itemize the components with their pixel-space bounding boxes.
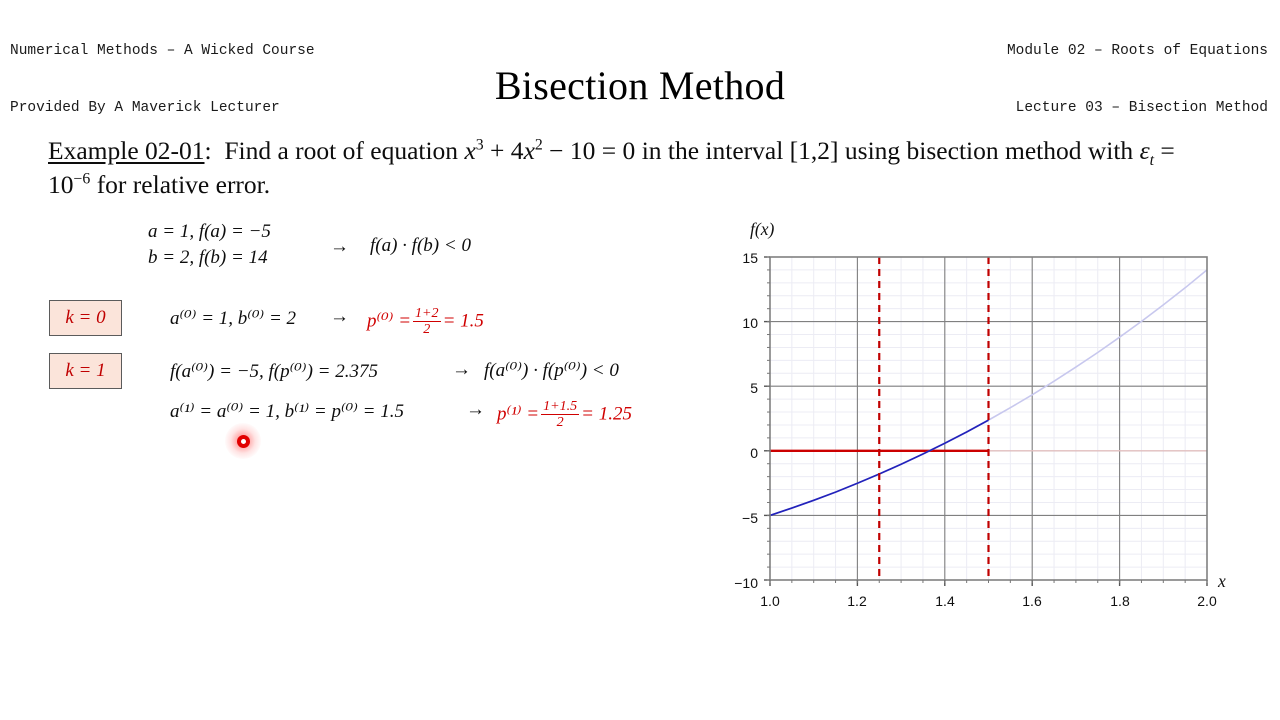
iteration-badge-k0-label: k = 0 <box>65 307 105 329</box>
arrow-k1: → <box>466 399 485 421</box>
arrow-k0: → <box>330 306 349 328</box>
click-indicator <box>225 423 261 459</box>
k0-fraction-denominator: 2 <box>413 322 441 337</box>
sign-condition-ab: f(a) · f(b) < 0 <box>370 235 471 257</box>
k0-fraction: 1+22 <box>413 306 441 336</box>
initial-b-line: b = 2, f(b) = 14 <box>148 247 268 269</box>
k0-fraction-numerator: 1+2 <box>413 306 441 322</box>
k0-midpoint-value: = 1.5 <box>443 311 484 332</box>
function-plot: f(x) x 15 10 5 0 −5 −10 1.0 1.2 1.4 1.6 … <box>700 205 1260 605</box>
initial-a-line: a = 1, f(a) = −5 <box>148 221 271 243</box>
iteration-badge-k1: k = 1 <box>49 353 122 389</box>
k1-midpoint: p⁽¹⁾ =1+1.52= 1.25 <box>497 399 632 429</box>
arrow-k1-cond: → <box>452 359 471 381</box>
module-title: Module 02 – Roots of Equations <box>1007 42 1268 61</box>
k0-midpoint-lhs: p⁽⁰⁾ = <box>367 311 411 332</box>
k1-fraction: 1+1.52 <box>541 399 579 429</box>
plot-canvas <box>700 205 1260 605</box>
k1-fraction-numerator: 1+1.5 <box>541 399 579 415</box>
epsilon-symbol: ε <box>1140 136 1150 165</box>
iteration-badge-k1-label: k = 1 <box>65 360 105 382</box>
slide: Numerical Methods – A Wicked Course Prov… <box>0 0 1280 720</box>
k1-fraction-denominator: 2 <box>541 415 579 430</box>
arrow-initial: → <box>330 236 349 258</box>
k0-midpoint: p⁽⁰⁾ =1+22= 1.5 <box>367 306 484 336</box>
iteration-badge-k0: k = 0 <box>49 300 122 336</box>
k1-interval: a⁽¹⁾ = a⁽⁰⁾ = 1, b⁽¹⁾ = p⁽⁰⁾ = 1.5 <box>170 400 404 423</box>
k1-midpoint-value: = 1.25 <box>581 404 632 425</box>
k1-sign-condition: f(a⁽⁰⁾) · f(p⁽⁰⁾) < 0 <box>484 359 619 382</box>
k1-function-evals: f(a⁽⁰⁾) = −5, f(p⁽⁰⁾) = 2.375 <box>170 360 378 383</box>
k0-interval: a⁽⁰⁾ = 1, b⁽⁰⁾ = 2 <box>170 307 296 330</box>
k1-midpoint-lhs: p⁽¹⁾ = <box>497 404 539 425</box>
derivation-area: a = 1, f(a) = −5 b = 2, f(b) = 14 → f(a)… <box>0 0 720 720</box>
